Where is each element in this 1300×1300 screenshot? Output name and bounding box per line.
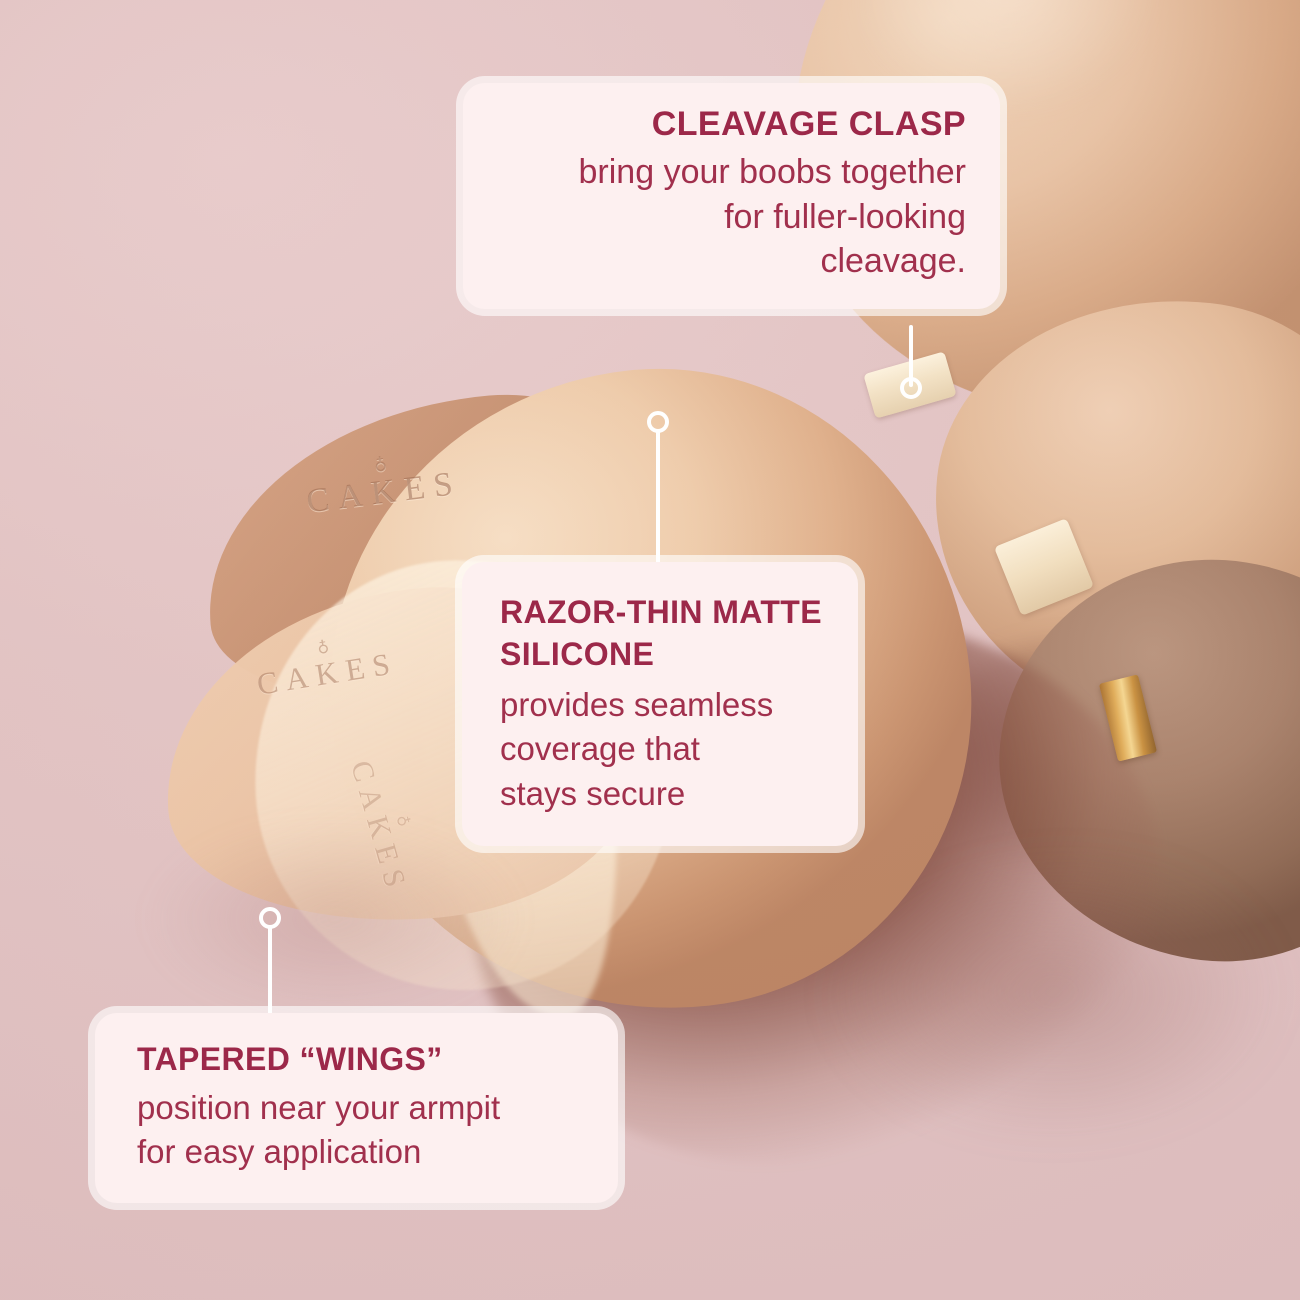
- callout-title: CLEAVAGE CLASP: [493, 105, 966, 144]
- callout-body-line: position near your armpit: [137, 1086, 588, 1130]
- callout-body: provides seamless coverage that stays se…: [500, 683, 828, 816]
- connector-line: [656, 430, 660, 564]
- connector-endpoint-ring: [900, 377, 922, 399]
- connector-endpoint-ring: [259, 907, 281, 929]
- callout-body: position near your armpit for easy appli…: [137, 1086, 588, 1173]
- connector-line: [268, 926, 272, 1016]
- callout-title: TAPERED “WINGS”: [137, 1041, 588, 1078]
- callout-body-line: stays secure: [500, 772, 828, 816]
- callout-body-line: bring your boobs together: [493, 150, 966, 194]
- shadow-pool-left: [120, 820, 550, 1040]
- callout-tapered-wings: TAPERED “WINGS” position near your armpi…: [95, 1013, 618, 1203]
- callout-title-line: RAZOR-THIN: [500, 594, 703, 630]
- callout-body-line: for easy application: [137, 1130, 588, 1174]
- callout-razor-thin-matte-silicone: RAZOR-THIN MATTE SILICONE provides seaml…: [462, 562, 858, 846]
- callout-body: bring your boobs together for fuller-loo…: [493, 150, 966, 283]
- callout-body-line: cleavage.: [493, 239, 966, 283]
- callout-cleavage-clasp: CLEAVAGE CLASP bring your boobs together…: [463, 83, 1000, 309]
- connector-endpoint-ring: [647, 411, 669, 433]
- callout-body-line: coverage that: [500, 727, 828, 771]
- callout-title: RAZOR-THIN MATTE SILICONE: [500, 592, 828, 675]
- callout-body-line: for fuller-looking: [493, 195, 966, 239]
- infographic-canvas: ♁ CAKES ♁ CAKES ♁ CAKES CLEAVAGE CLASP b…: [0, 0, 1300, 1300]
- callout-body-line: provides seamless: [500, 683, 828, 727]
